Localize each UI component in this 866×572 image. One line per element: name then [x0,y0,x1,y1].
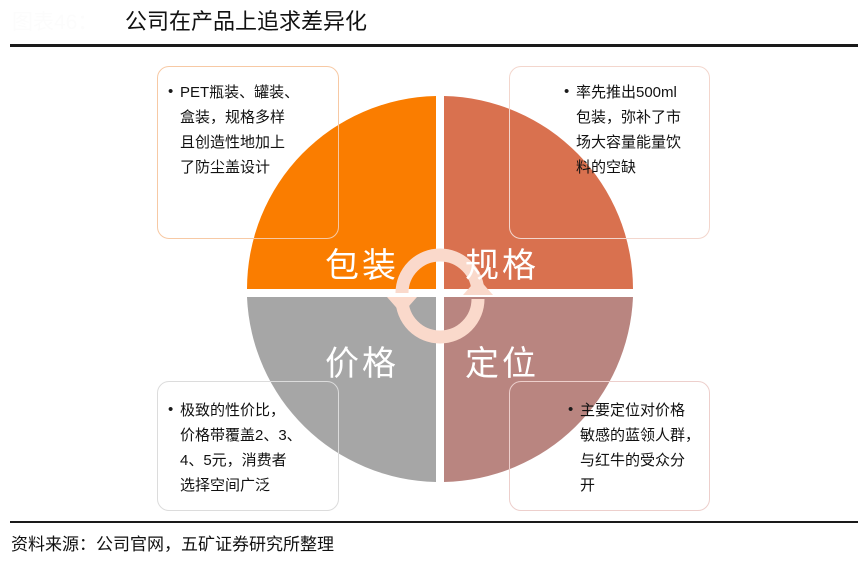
page-title: 公司在产品上追求差异化 [125,7,367,37]
callout-packaging-text: PET瓶装、罐装、 盒装，规格多样 且创造性地加上 了防尘盖设计 [180,80,299,180]
quadrant-label-position: 定位 [465,345,539,383]
diagram-canvas: 包装 规格 价格 定位 • PET瓶装、罐装、 盒装，规格多样 且创造性地加上 … [0,47,866,519]
footer-divider [10,521,858,523]
quadrant-label-packaging: 包装 [325,247,399,285]
page-header: 图表46： 公司在产品上追求差异化 [0,0,866,45]
source-note: 资料来源：公司官网，五矿证券研究所整理 [11,533,334,557]
quadrant-label-price: 价格 [325,345,399,383]
callout-price-text: 极致的性价比， 价格带覆盖2、3、 4、5元，消费者 选择空间广泛 [180,398,302,498]
callout-packaging[interactable]: • PET瓶装、罐装、 盒装，规格多样 且创造性地加上 了防尘盖设计 [157,66,339,239]
callout-position[interactable]: • 主要定位对价格 敏感的蓝领人群， 与红牛的受众分 开 [509,381,710,511]
bullet-icon: • [568,398,580,422]
callout-spec[interactable]: • 率先推出500ml 包装，弥补了市 场大容量能量饮 料的空缺 [509,66,710,239]
bullet-icon: • [564,80,576,104]
bullet-icon: • [168,80,180,104]
bullet-icon: • [168,398,180,422]
callout-price[interactable]: • 极致的性价比， 价格带覆盖2、3、 4、5元，消费者 选择空间广泛 [157,381,339,511]
callout-spec-text: 率先推出500ml 包装，弥补了市 场大容量能量饮 料的空缺 [576,80,681,180]
quadrant-label-spec: 规格 [465,247,539,285]
figure-number-label: 图表46： [12,10,98,36]
callout-position-text: 主要定位对价格 敏感的蓝领人群， 与红牛的受众分 开 [580,398,700,498]
